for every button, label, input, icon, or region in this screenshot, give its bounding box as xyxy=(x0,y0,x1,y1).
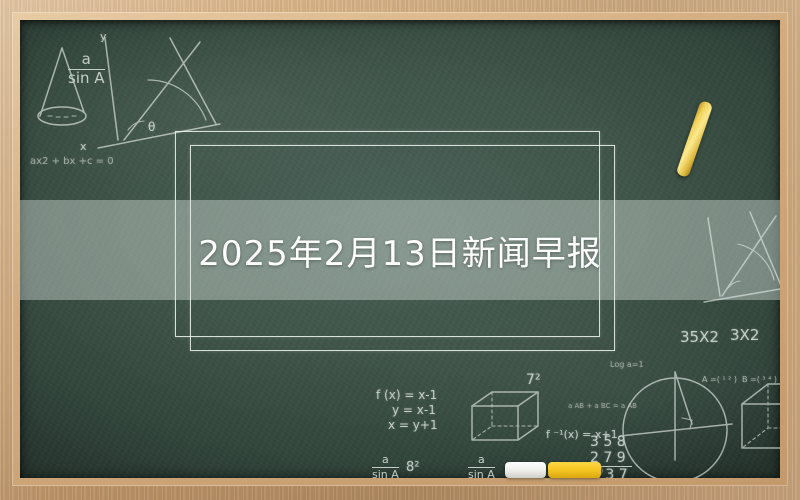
blackboard-banner: a sin A y x θ ax2 + bx +c = 0 f (x) = x-… xyxy=(0,0,800,500)
function-line-3: x = y+1 xyxy=(388,418,438,432)
square-eight-squared: 8² xyxy=(406,460,419,475)
matrix-a-label: A =( ¹ ² ) xyxy=(702,375,737,384)
function-line-1: f (x) = x-1 xyxy=(376,388,437,402)
label-3x2: 3X2 xyxy=(730,326,759,344)
fraction-a-over-sinA-bottommid: a sin A xyxy=(468,454,495,478)
function-line-2: y = x-1 xyxy=(392,403,436,417)
small-equation-ab-bc: a AB + a BC = a AB xyxy=(568,402,637,410)
white-chalk-on-ledge[interactable] xyxy=(505,462,546,478)
axis-y-label: y xyxy=(100,30,107,43)
fraction-a-over-sinA-topleft: a sin A xyxy=(68,52,105,87)
label-35x2: 35X2 xyxy=(680,328,719,346)
cube-drawing-right xyxy=(742,384,780,448)
log-label: Log a=1 xyxy=(610,360,644,369)
chalkboard-surface: a sin A y x θ ax2 + bx +c = 0 f (x) = x-… xyxy=(20,20,780,478)
page-title: 2025年2月13日新闻早报 xyxy=(20,200,780,300)
yellow-chalk-on-ledge[interactable] xyxy=(548,462,601,478)
cube-drawing-center xyxy=(472,392,538,440)
power-seven-squared: 7² xyxy=(526,372,541,388)
sum-row-1: 3 5 8 xyxy=(590,434,626,450)
axis-x-label: x xyxy=(80,140,87,153)
fraction-a-over-sinA-bottomleft: a sin A xyxy=(372,454,399,478)
quadratic-equation: ax2 + bx +c = 0 xyxy=(30,156,114,167)
sphere-drawing xyxy=(620,372,732,478)
matrix-b-label: B =( ³ ⁴ ) xyxy=(742,375,777,384)
angle-theta-label: θ xyxy=(148,120,155,134)
